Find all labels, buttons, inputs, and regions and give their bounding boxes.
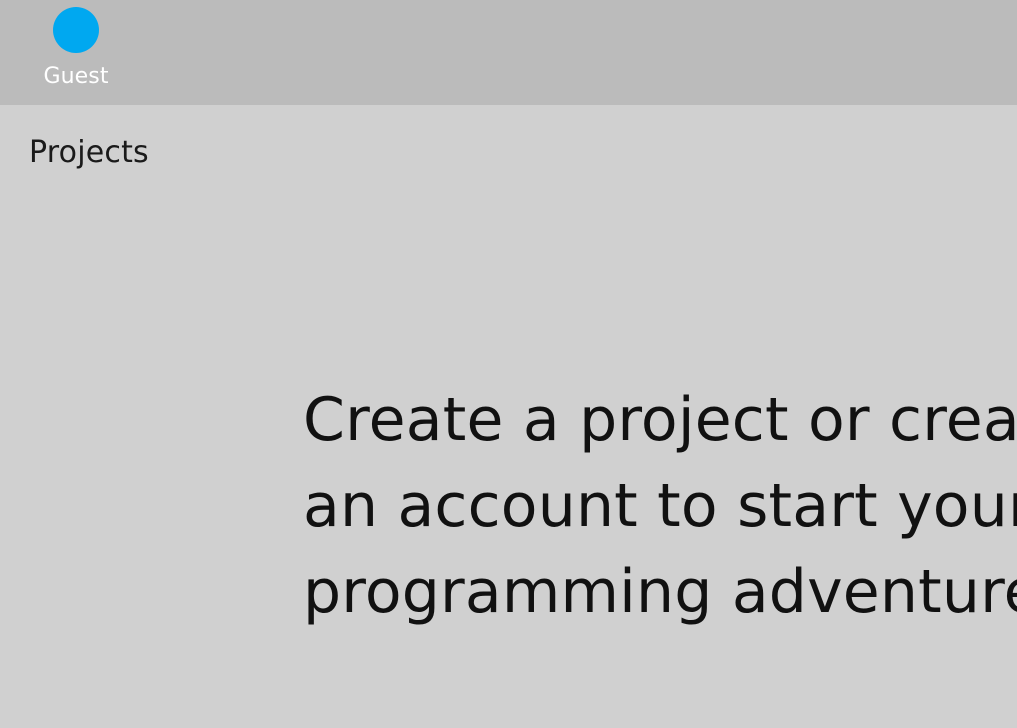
account-button[interactable]: Guest xyxy=(14,4,138,102)
page-title: Projects xyxy=(29,135,149,171)
empty-state-message: Create a project or create an account to… xyxy=(303,377,1017,635)
app-root: Guest Projects Create a project or creat… xyxy=(0,0,1017,728)
empty-state-line-1: Create a project or create xyxy=(303,377,1017,463)
content-area: Projects Create a project or create an a… xyxy=(0,105,1017,728)
top-bar: Guest xyxy=(0,0,1017,105)
empty-state-line-2: an account to start your xyxy=(303,463,1017,549)
empty-state-line-3: programming adventure! xyxy=(303,549,1017,635)
user-avatar-circle-icon xyxy=(53,7,99,53)
account-name-label: Guest xyxy=(43,64,108,90)
